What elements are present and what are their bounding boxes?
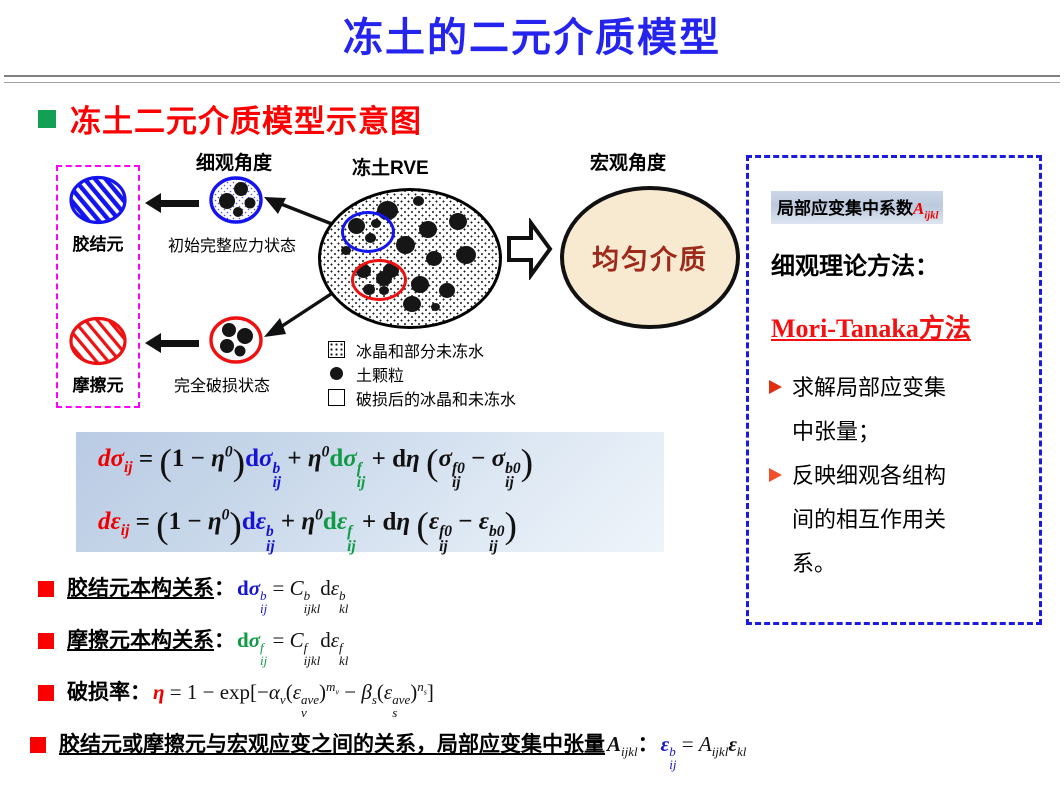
constitutive-formula-box: dσij = (1 − η0)dσbij + η0dσfij + dη (σf0… bbox=[76, 432, 664, 552]
bullet-bond-constitutive: 胶结元本构关系： dσbij = Cbijkldεbkl bbox=[38, 572, 348, 615]
soil-particle-dot bbox=[439, 283, 455, 298]
bullet-equation: εbij = Aijklεkl bbox=[661, 732, 747, 771]
red-square-bullet-icon bbox=[38, 685, 54, 701]
bond-zone-ring bbox=[341, 211, 395, 253]
soil-particle-dot bbox=[431, 303, 440, 311]
bond-element-label: 胶结元 bbox=[68, 230, 128, 255]
soil-particle-dot bbox=[411, 276, 429, 293]
highlight-symbol: Aijkl bbox=[913, 199, 938, 218]
bullet-friction-constitutive: 摩擦元本构关系： dσfij = Cfijkldεfkl bbox=[38, 624, 348, 667]
state-damaged-label: 完全破损状态 bbox=[174, 372, 270, 396]
bullet-colon: ： bbox=[130, 676, 151, 706]
diagram-legend: 冰晶和部分未冻水 土颗粒 破损后的冰晶和未冻水 bbox=[328, 338, 516, 410]
panel-item-line: 求解局部应变集 bbox=[792, 375, 946, 400]
soil-particle-dot bbox=[449, 213, 467, 230]
friction-zone-ring bbox=[351, 259, 407, 301]
bullet-colon: ： bbox=[214, 572, 235, 602]
slide-root: 冻土的二元介质模型 冻土二元介质模型示意图 细观角度 冻土RVE 宏观角度 胶结… bbox=[0, 0, 1064, 799]
legend-label: 土颗粒 bbox=[356, 362, 404, 386]
legend-item: 土颗粒 bbox=[328, 362, 516, 385]
mori-tanaka-panel: 局部应变集中系数Aijkl 细观理论方法： Mori-Tanaka方法 求解局部… bbox=[746, 155, 1042, 625]
bullet-colon: ： bbox=[214, 624, 235, 654]
bullet-label-rest: 本构关系 bbox=[130, 572, 214, 602]
red-square-bullet-icon bbox=[30, 737, 46, 753]
section-heading-label: 冻土二元介质模型示意图 bbox=[70, 96, 422, 141]
bond-element-icon bbox=[68, 175, 128, 225]
rve-ellipse bbox=[318, 188, 502, 329]
legend-item: 破损后的冰晶和未冻水 bbox=[328, 386, 516, 409]
soil-particle-dot bbox=[413, 196, 424, 206]
panel-item-line: 中张量； bbox=[792, 419, 880, 444]
panel-item-line: 反映细观各组构 bbox=[792, 463, 946, 488]
header-rve-label: 冻土RVE bbox=[352, 153, 429, 180]
bullet-colon: ： bbox=[638, 728, 659, 758]
macro-label: 均匀介质 bbox=[592, 238, 708, 277]
bullet-equation: dσfij = Cfijkldεfkl bbox=[237, 628, 348, 667]
green-square-bullet-icon bbox=[38, 110, 56, 128]
page-title: 冻土的二元介质模型 bbox=[0, 8, 1064, 68]
soil-particle-dot bbox=[426, 251, 442, 266]
soil-particle-dot bbox=[456, 246, 476, 264]
friction-element-icon bbox=[68, 316, 128, 366]
transform-block-arrow-icon bbox=[505, 218, 553, 280]
header-micro-label: 细观角度 bbox=[196, 148, 272, 175]
formula-line-stress: dσij = (1 − η0)dσbij + η0dσfij + dη (σf0… bbox=[98, 429, 664, 492]
strain-concentration-coefficient-label: 局部应变集中系数Aijkl bbox=[771, 191, 943, 224]
legend-label: 冰晶和部分未冻水 bbox=[356, 338, 484, 362]
formula-line-strain: dεij = (1 − η0)dεbij + η0dεfij + dη (εf0… bbox=[98, 492, 664, 555]
schematic-diagram: 细观角度 冻土RVE 宏观角度 胶结元 bbox=[0, 140, 740, 425]
legend-item: 冰晶和部分未冻水 bbox=[328, 338, 516, 361]
bullet-equation: dσbij = Cbijkldεbkl bbox=[237, 576, 348, 615]
panel-item-line: 系。 bbox=[792, 551, 836, 576]
bullet-symbol-a: Aijkl bbox=[607, 732, 638, 760]
panel-subtitle: 细观理论方法： bbox=[771, 246, 939, 281]
title-divider bbox=[4, 75, 1060, 83]
friction-element-label: 摩擦元 bbox=[68, 371, 128, 396]
legend-label: 破损后的冰晶和未冻水 bbox=[356, 386, 516, 410]
mori-tanaka-method-label: Mori-Tanaka方法 bbox=[771, 308, 971, 345]
soil-particle-dot bbox=[403, 296, 421, 312]
header-macro-label: 宏观角度 bbox=[590, 148, 666, 175]
panel-list-item-2: 反映细观各组构 间的相互作用关 系。 bbox=[769, 454, 1031, 586]
bullet-label-underlined: 胶结元 bbox=[67, 572, 130, 602]
arrow-bullet-icon bbox=[769, 380, 782, 394]
filled-circle-icon bbox=[330, 367, 343, 380]
highlight-cn-text: 局部应变集中系数 bbox=[777, 199, 913, 218]
bullet-label-underlined: 胶结元或摩擦元与宏观应变之间的关系，局部应变集中张量 bbox=[59, 728, 605, 758]
bullet-damage-rate: 破损率： η = 1 − exp[−αv(εavev)mv − βs(εaves… bbox=[38, 676, 434, 719]
bullet-label-rest: 破损率 bbox=[67, 676, 130, 706]
panel-item-line: 间的相互作用关 bbox=[792, 507, 946, 532]
soil-particle-dot bbox=[419, 221, 437, 238]
panel-list-item-1: 求解局部应变集 中张量； bbox=[769, 366, 1031, 454]
macro-ellipse: 均匀介质 bbox=[560, 186, 740, 329]
red-square-bullet-icon bbox=[38, 581, 54, 597]
section-heading: 冻土二元介质模型示意图 bbox=[38, 96, 422, 141]
bullet-equation: η = 1 − exp[−αv(εavev)mv − βs(εaves)ns] bbox=[153, 679, 434, 719]
bullet-label-underlined: 摩擦元 bbox=[67, 624, 130, 654]
arrow-bullet-icon bbox=[769, 468, 782, 482]
empty-square-icon bbox=[328, 389, 345, 406]
red-square-bullet-icon bbox=[38, 633, 54, 649]
soil-particle-dot bbox=[396, 236, 415, 254]
bullet-strain-concentration: 胶结元或摩擦元与宏观应变之间的关系，局部应变集中张量Aijkl： εbij = … bbox=[30, 728, 746, 771]
dotted-square-icon bbox=[328, 341, 345, 358]
bullet-label-rest: 本构关系 bbox=[130, 624, 214, 654]
